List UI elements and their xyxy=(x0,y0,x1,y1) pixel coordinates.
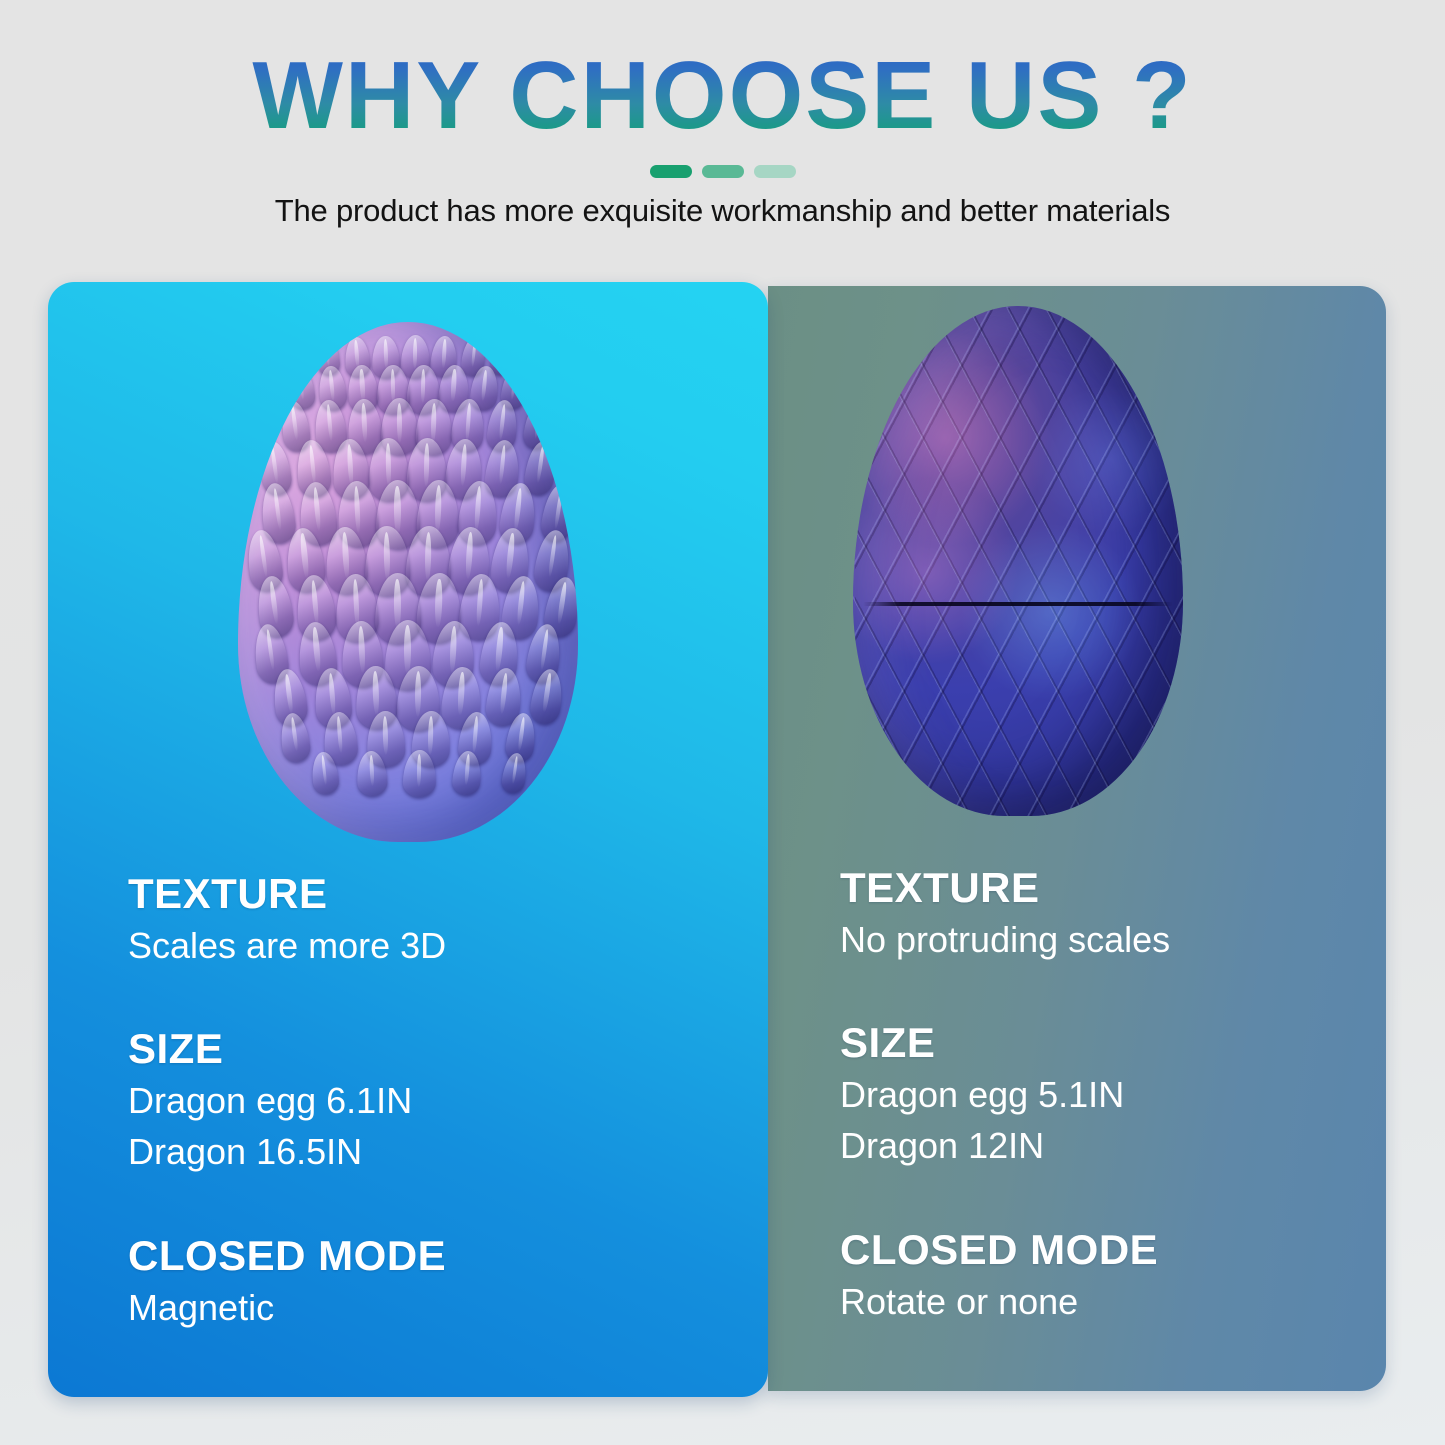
spec-title-closed-mode: CLOSED MODE xyxy=(128,1234,446,1278)
dragon-egg-smooth xyxy=(853,306,1183,816)
spec-list-other-product: TEXTURE No protruding scales SIZE Dragon… xyxy=(840,866,1170,1327)
page-subtitle: The product has more exquisite workmansh… xyxy=(0,193,1445,229)
spec-closed-mode: CLOSED MODE Rotate or none xyxy=(840,1228,1170,1327)
spec-texture: TEXTURE No protruding scales xyxy=(840,866,1170,965)
spec-title-texture: TEXTURE xyxy=(840,866,1170,910)
spec-title-size: SIZE xyxy=(128,1027,446,1071)
spec-title-size: SIZE xyxy=(840,1021,1170,1065)
spec-title-texture: TEXTURE xyxy=(128,872,446,916)
spec-texture: TEXTURE Scales are more 3D xyxy=(128,872,446,971)
dash-2-icon xyxy=(702,165,744,178)
header: WHY CHOOSE US ? The product has more exq… xyxy=(0,0,1445,282)
page-title: WHY CHOOSE US ? xyxy=(0,48,1445,144)
spec-value-size-egg: Dragon egg 5.1IN xyxy=(840,1069,1170,1120)
scale-texture-protruding xyxy=(238,322,578,842)
spec-title-closed-mode: CLOSED MODE xyxy=(840,1228,1170,1272)
spec-closed-mode: CLOSED MODE Magnetic xyxy=(128,1234,446,1333)
product-image-our-product xyxy=(238,322,578,842)
spec-size: SIZE Dragon egg 5.1IN Dragon 12IN xyxy=(840,1021,1170,1171)
dash-1-icon xyxy=(650,165,692,178)
dash-3-icon xyxy=(754,165,796,178)
comparison-cards: TEXTURE Scales are more 3D SIZE Dragon e… xyxy=(48,282,1386,1397)
card-other-product: TEXTURE No protruding scales SIZE Dragon… xyxy=(768,286,1386,1391)
card-our-product: TEXTURE Scales are more 3D SIZE Dragon e… xyxy=(48,282,768,1397)
spec-list-our-product: TEXTURE Scales are more 3D SIZE Dragon e… xyxy=(128,872,446,1333)
product-image-other-product xyxy=(853,306,1183,816)
spec-size: SIZE Dragon egg 6.1IN Dragon 16.5IN xyxy=(128,1027,446,1177)
spec-value-size-dragon: Dragon 12IN xyxy=(840,1120,1170,1171)
egg-seam-line xyxy=(863,602,1173,606)
spec-value-size-egg: Dragon egg 6.1IN xyxy=(128,1075,446,1126)
spec-value-size-dragon: Dragon 16.5IN xyxy=(128,1126,446,1177)
dragon-egg-spiky xyxy=(238,322,578,842)
decorative-dashes xyxy=(0,165,1445,178)
spec-value-closed-mode: Magnetic xyxy=(128,1282,446,1333)
spec-value-closed-mode: Rotate or none xyxy=(840,1276,1170,1327)
spec-value-texture: Scales are more 3D xyxy=(128,920,446,971)
spec-value-texture: No protruding scales xyxy=(840,914,1170,965)
